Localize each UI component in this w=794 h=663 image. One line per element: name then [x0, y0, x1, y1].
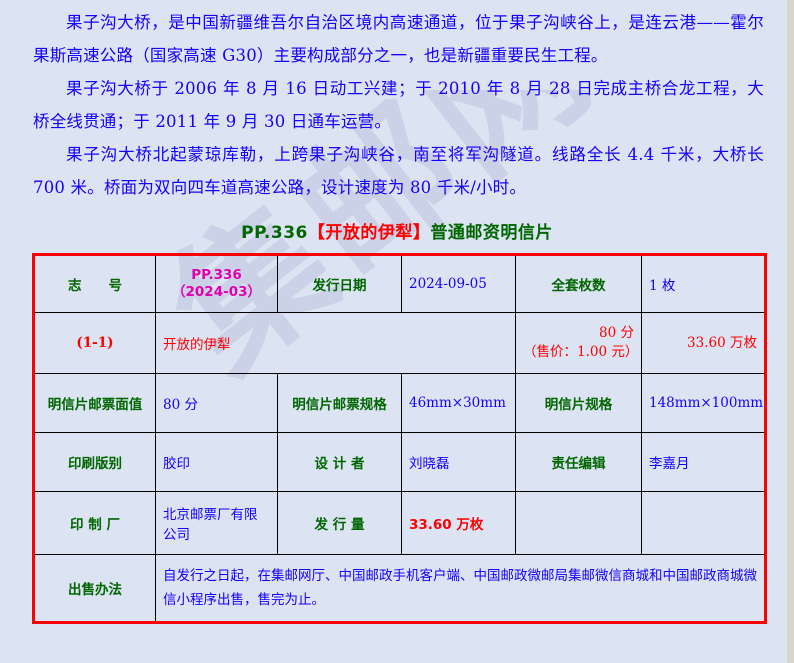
- intro-article: 果子沟大桥，是中国新疆维吾尔自治区境内高速通道，位于果子沟峡谷上，是连云港——霍…: [0, 0, 794, 204]
- cell-label-card-size: 明信片规格: [516, 374, 642, 433]
- cell-value-catalog-no: PP.336 （2024-03）: [156, 255, 278, 313]
- catalog-no-line2: （2024-03）: [163, 284, 270, 301]
- cell-value-stamp-size: 46mm×30mm: [402, 374, 516, 433]
- title-catalog-number: PP.336: [241, 223, 308, 243]
- title-series-name: 【开放的伊犁】: [308, 223, 431, 243]
- table-row: 印 制 厂 北京邮票厂有限公司 发 行 量 33.60 万枚: [34, 492, 766, 555]
- cell-label-print-method: 印刷版别: [34, 433, 156, 492]
- intro-paragraph-1: 果子沟大桥，是中国新疆维吾尔自治区境内高速通道，位于果子沟峡谷上，是连云港——霍…: [33, 6, 764, 72]
- cell-value-set-count: 1 枚: [642, 255, 766, 313]
- cell-label-editor: 责任编辑: [516, 433, 642, 492]
- postcard-spec-table: 志 号 PP.336 （2024-03） 发行日期 2024-09-05 全套枚…: [32, 253, 767, 624]
- cell-label-printer: 印 制 厂: [34, 492, 156, 555]
- right-edge-strip: [787, 0, 794, 663]
- cell-value-issue-date: 2024-09-05: [402, 255, 516, 313]
- cell-value-print-run: 33.60 万枚: [402, 492, 516, 555]
- page-title: PP.336【开放的伊犁】普通邮资明信片: [0, 218, 794, 243]
- cell-value-card-size: 148mm×100mm: [642, 374, 766, 433]
- intro-paragraph-3: 果子沟大桥北起蒙琼库勒，上跨果子沟峡谷，南至将军沟隧道。线路全长 4.4 千米，…: [33, 138, 764, 204]
- denomination-line1: 80 分: [523, 324, 634, 343]
- cell-stamp-denomination: 80 分 （售价：1.00 元）: [516, 313, 642, 374]
- cell-stamp-quantity: 33.60 万枚: [642, 313, 766, 374]
- table-row: 明信片邮票面值 80 分 明信片邮票规格 46mm×30mm 明信片规格 148…: [34, 374, 766, 433]
- cell-value-stamp-face-value: 80 分: [156, 374, 278, 433]
- cell-empty-2: [642, 492, 766, 555]
- spec-table-container: 志 号 PP.336 （2024-03） 发行日期 2024-09-05 全套枚…: [0, 253, 794, 624]
- table-row: (1-1) 开放的伊犁 80 分 （售价：1.00 元） 33.60 万枚: [34, 313, 766, 374]
- cell-label-sales-method: 出售办法: [34, 555, 156, 623]
- table-row: 志 号 PP.336 （2024-03） 发行日期 2024-09-05 全套枚…: [34, 255, 766, 313]
- cell-label-stamp-size: 明信片邮票规格: [278, 374, 402, 433]
- cell-label-set-count: 全套枚数: [516, 255, 642, 313]
- cell-stamp-name: 开放的伊犁: [156, 313, 516, 374]
- cell-label-print-run: 发 行 量: [278, 492, 402, 555]
- cell-value-printer: 北京邮票厂有限公司: [156, 492, 278, 555]
- cell-label-designer: 设 计 者: [278, 433, 402, 492]
- table-row: 印刷版别 胶印 设 计 者 刘晓磊 责任编辑 李嘉月: [34, 433, 766, 492]
- cell-value-print-method: 胶印: [156, 433, 278, 492]
- cell-value-sales-method: 自发行之日起，在集邮网厅、中国邮政手机客户端、中国邮政微邮局集邮微信商城和中国邮…: [156, 555, 766, 623]
- cell-stamp-index: (1-1): [34, 313, 156, 374]
- intro-paragraph-2: 果子沟大桥于 2006 年 8 月 16 日动工兴建；于 2010 年 8 月 …: [33, 72, 764, 138]
- cell-label-stamp-face-value: 明信片邮票面值: [34, 374, 156, 433]
- cell-label-catalog-no: 志 号: [34, 255, 156, 313]
- page-content: 果子沟大桥，是中国新疆维吾尔自治区境内高速通道，位于果子沟峡谷上，是连云港——霍…: [0, 0, 794, 624]
- cell-empty-1: [516, 492, 642, 555]
- cell-value-designer: 刘晓磊: [402, 433, 516, 492]
- catalog-no-line1: PP.336: [163, 267, 270, 284]
- cell-label-issue-date: 发行日期: [278, 255, 402, 313]
- title-issue-type: 普通邮资明信片: [430, 223, 553, 243]
- cell-value-editor: 李嘉月: [642, 433, 766, 492]
- table-row: 出售办法 自发行之日起，在集邮网厅、中国邮政手机客户端、中国邮政微邮局集邮微信商…: [34, 555, 766, 623]
- denomination-line2: （售价：1.00 元）: [523, 343, 634, 362]
